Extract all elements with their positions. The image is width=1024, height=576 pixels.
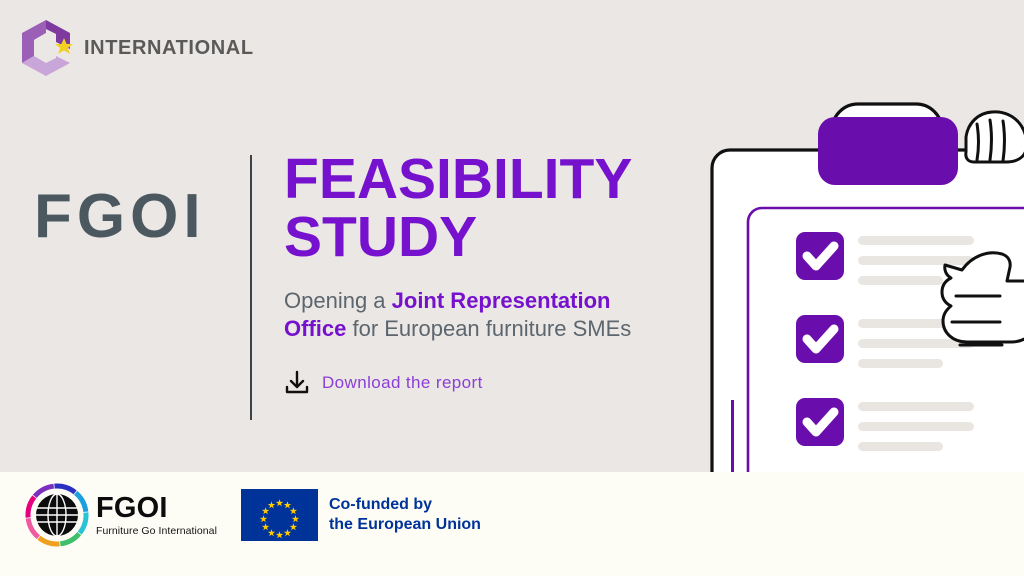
fgoi-logo: FGOI Furniture Go International bbox=[24, 482, 217, 548]
download-icon bbox=[284, 370, 310, 396]
hand-grip-icon bbox=[966, 112, 1024, 162]
fgoi-logo-tagline: Furniture Go International bbox=[96, 526, 217, 537]
c-international-hex-logo bbox=[18, 18, 74, 78]
fgoi-logo-name: FGOI bbox=[96, 492, 168, 524]
footer-logos: FGOI Furniture Go International bbox=[24, 482, 481, 548]
page-title: FEASIBILITY STUDY bbox=[284, 150, 664, 266]
subtitle-suffix: for European furniture SMEs bbox=[346, 316, 631, 341]
subtitle: Opening a Joint Representation Office fo… bbox=[284, 287, 664, 343]
download-label: Download the report bbox=[322, 373, 483, 393]
brand-name: INTERNATIONAL bbox=[84, 37, 254, 60]
download-report-link[interactable]: Download the report bbox=[284, 370, 664, 396]
eu-funding-text: Co-funded by the European Union bbox=[329, 495, 481, 534]
subtitle-prefix: Opening a bbox=[284, 288, 392, 313]
headline-block: FGOI FEASIBILITY STUDY Opening a Joint R… bbox=[34, 150, 674, 420]
poster-canvas: INTERNATIONAL FGOI FEASIBILITY STUDY Ope… bbox=[0, 0, 1024, 576]
clipboard-clip-icon bbox=[818, 104, 958, 185]
eu-funding-logo: Co-funded by the European Union bbox=[241, 489, 481, 541]
eu-flag-icon bbox=[241, 489, 318, 541]
fgoi-globe-logo bbox=[24, 482, 90, 548]
brand-logo[interactable]: INTERNATIONAL bbox=[18, 18, 254, 78]
fgoi-acronym: FGOI bbox=[34, 150, 250, 248]
